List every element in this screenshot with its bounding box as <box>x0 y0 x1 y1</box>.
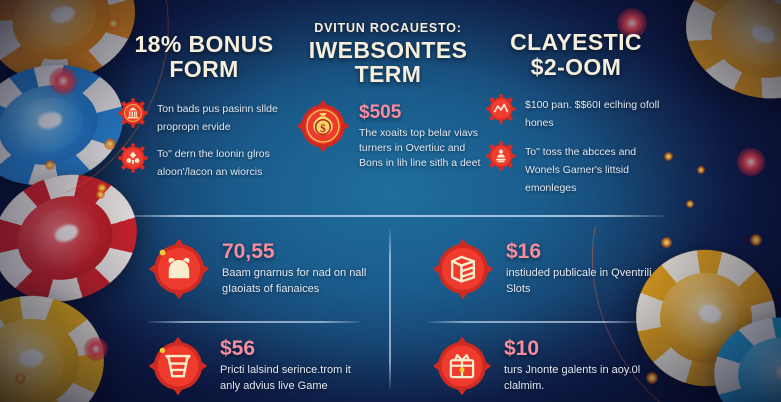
content-layer: 18% BONUS FORM <box>0 0 781 402</box>
top-columns: 18% BONUS FORM <box>118 22 666 208</box>
item-slots[interactable]: $16 instiuded publicale in Qventrili Slo… <box>432 238 656 300</box>
heading-line: TERM <box>290 62 486 87</box>
divider-main-horizontal <box>118 215 666 217</box>
feature-desc: The xoaits top belar viavs turners in Ov… <box>359 126 486 171</box>
feature-text: Ton bads pus pasinn sllde propropn ervid… <box>157 98 290 135</box>
feature-text: To" toss the abcces and Wonels Gamer's l… <box>525 141 666 196</box>
feature-desc: Ton bads pus pasinn sllde propropn ervid… <box>157 103 278 133</box>
feature-row[interactable]: $100 pan. $$60I eclhing ofoll hones <box>486 94 666 131</box>
column-right: CLAYESTIC $2-OOM <box>486 22 666 208</box>
item-text: $16 instiuded publicale in Qventrili Slo… <box>506 240 656 298</box>
chart-arrow-icon <box>486 94 516 124</box>
trophy-person-icon <box>486 141 516 171</box>
column-center-heading: DVITUN ROCAUESTO: IWEBSONTES TERM <box>290 22 486 87</box>
heading-line: CLAYESTIC <box>486 30 666 55</box>
poker-table-icon <box>148 336 208 396</box>
item-desc: turs Jnonte galents in aoy.0l clalmim. <box>504 363 654 395</box>
feature-row[interactable]: Ton bads pus pasinn sllde propropn ervid… <box>118 98 290 135</box>
svg-text:$: $ <box>320 123 326 135</box>
feature-text: $100 pan. $$60I eclhing ofoll hones <box>525 94 666 131</box>
feature-text: To" dern the loonin glros aloon'/lacon a… <box>157 143 290 180</box>
column-left-heading: 18% BONUS FORM <box>118 22 290 82</box>
feature-text: $505 The xoaits top belar viavs turners … <box>359 99 486 171</box>
feature-row[interactable]: To" dern the loonin glros aloon'/lacon a… <box>118 143 290 180</box>
casino-building-icon <box>118 98 148 128</box>
heading-line: 18% BONUS <box>118 32 290 57</box>
column-right-heading: CLAYESTIC $2-OOM <box>486 22 666 80</box>
money-bag-icon: $ <box>296 99 350 153</box>
item-claim[interactable]: $10 turs Jnonte galents in aoy.0l clalmi… <box>432 336 654 396</box>
feature-desc: $100 pan. $$60I eclhing ofoll hones <box>525 99 659 129</box>
divider-sub-left <box>148 321 360 323</box>
heading-line: IWEBSONTES <box>290 38 486 63</box>
feature-amount: $505 <box>359 103 486 124</box>
item-amount: 70,55 <box>222 240 372 264</box>
feature-row[interactable]: To" toss the abcces and Wonels Gamer's l… <box>486 141 666 196</box>
feature-desc: To" toss the abcces and Wonels Gamer's l… <box>525 146 636 194</box>
card-stack-icon <box>432 238 494 300</box>
infographic-canvas: 18% BONUS FORM <box>0 0 781 402</box>
divider-vertical <box>389 228 391 390</box>
item-jackpot[interactable]: 70,55 Baam gnarnus for nad on nall gIaoi… <box>148 238 372 300</box>
heading-line: $2-OOM <box>486 55 666 80</box>
divider-sub-right <box>428 321 640 323</box>
item-desc: instiuded publicale in Qventrili Slots <box>506 266 656 298</box>
column-center: DVITUN ROCAUESTO: IWEBSONTES TERM <box>290 22 486 208</box>
item-text: $10 turs Jnonte galents in aoy.0l clalmi… <box>504 337 654 395</box>
item-text: $56 Pricti lalsind serince.trom it anly … <box>220 337 370 395</box>
item-desc: Pricti lalsind serince.trom it anly advi… <box>220 363 370 395</box>
item-amount: $16 <box>506 240 656 264</box>
item-live-game[interactable]: $56 Pricti lalsind serince.trom it anly … <box>148 336 370 396</box>
item-text: 70,55 Baam gnarnus for nad on nall gIaoi… <box>222 240 372 298</box>
heading-kicker: DVITUN ROCAUESTO: <box>290 22 486 36</box>
item-desc: Baam gnarnus for nad on nall gIaoiats of… <box>222 266 372 298</box>
card-suits-icon <box>118 143 148 173</box>
gift-box-icon <box>432 336 492 396</box>
slot-bell-icon <box>148 238 210 300</box>
item-amount: $10 <box>504 337 654 361</box>
column-left: 18% BONUS FORM <box>118 22 290 208</box>
heading-line: FORM <box>118 57 290 82</box>
item-amount: $56 <box>220 337 370 361</box>
feature-desc: To" dern the loonin glros aloon'/lacon a… <box>157 148 270 178</box>
feature-row[interactable]: $ $505 The xoaits top belar viavs turner… <box>290 99 486 171</box>
